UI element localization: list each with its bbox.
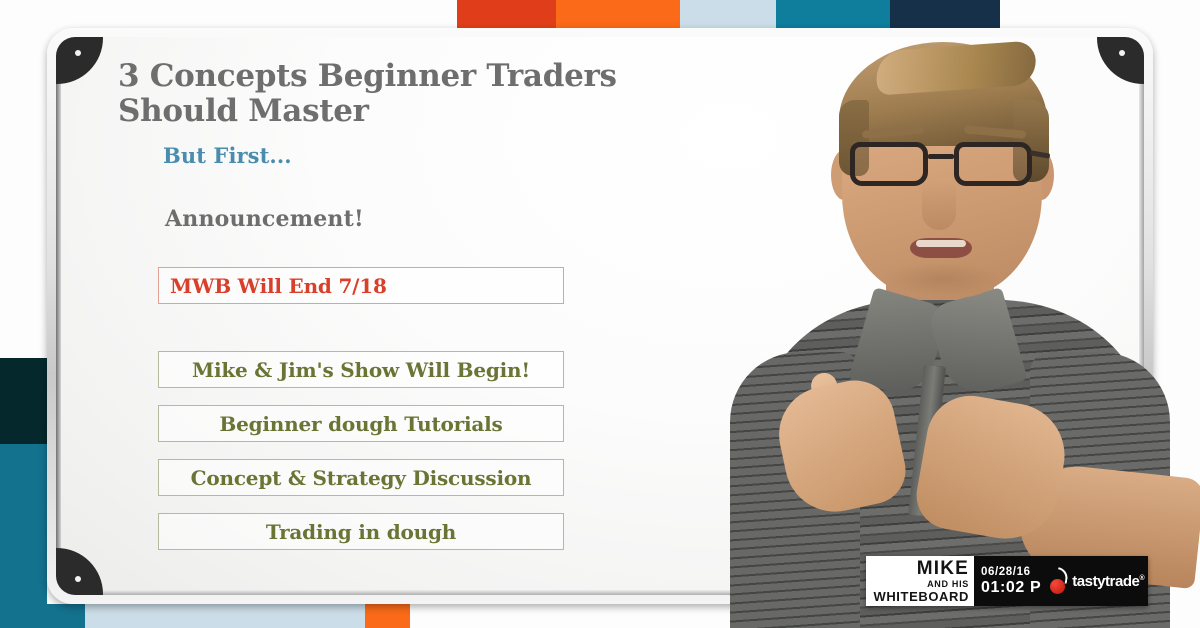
color-band-dark-teal-left: [0, 358, 47, 444]
topic-box-discussion: Concept & Strategy Discussion: [158, 459, 564, 496]
cherry-fruit-icon: [1050, 579, 1065, 594]
topic-box-show: Mike & Jim's Show Will Begin!: [158, 351, 564, 388]
presenter-chin: [882, 262, 1002, 296]
slide-title: 3 Concepts Beginner Traders Should Maste…: [118, 59, 638, 129]
show-title-block: MIKE AND HIS WHITEBOARD: [866, 556, 974, 606]
brand-name: tastytrade®: [1072, 573, 1144, 590]
cherry-icon: [1048, 568, 1070, 594]
topic-box-trading: Trading in dough: [158, 513, 564, 550]
lower-third-banner: MIKE AND HIS WHITEBOARD 06/28/16 01:02 P…: [866, 556, 1148, 606]
timestamp-block: 06/28/16 01:02 P: [981, 565, 1041, 597]
timestamp-brand-block: 06/28/16 01:02 P tastytrade®: [974, 556, 1148, 606]
show-title-line1: MIKE: [917, 559, 969, 578]
presenter-video: [700, 0, 1200, 628]
show-title-line3: WHITEBOARD: [873, 590, 969, 603]
broadcast-date: 06/28/16: [981, 565, 1041, 579]
glasses-lens-right: [954, 142, 1032, 186]
topic-box-tutorials: Beginner dough Tutorials: [158, 405, 564, 442]
color-band-teal-bottom: [47, 604, 85, 628]
alert-box: MWB Will End 7/18: [158, 267, 564, 304]
frame-rail-left: [56, 79, 61, 569]
slide-content: 3 Concepts Beginner Traders Should Maste…: [118, 59, 638, 550]
presenter-teeth: [916, 240, 966, 247]
slide-subtitle: But First...: [163, 143, 638, 168]
color-band-teal-left: [0, 444, 47, 628]
brand-trademark: ®: [1139, 575, 1144, 582]
tastytrade-logo: tastytrade®: [1048, 568, 1144, 594]
color-band-red: [457, 0, 556, 28]
broadcast-time: 01:02 P: [981, 579, 1041, 597]
frame-corner-bottom-left: [56, 548, 103, 595]
frame-corner-top-left: [56, 37, 103, 84]
brand-text: tastytrade: [1072, 573, 1139, 590]
glasses-bridge: [928, 154, 954, 159]
glasses-lens-left: [850, 142, 928, 186]
color-band-orange: [556, 0, 680, 28]
announcement-label: Announcement!: [165, 206, 638, 232]
color-band-light-blue-bottom: [85, 604, 365, 628]
presenter-nose: [922, 182, 956, 230]
video-frame: 3 Concepts Beginner Traders Should Maste…: [0, 0, 1200, 628]
color-band-orange-bottom: [365, 604, 410, 628]
